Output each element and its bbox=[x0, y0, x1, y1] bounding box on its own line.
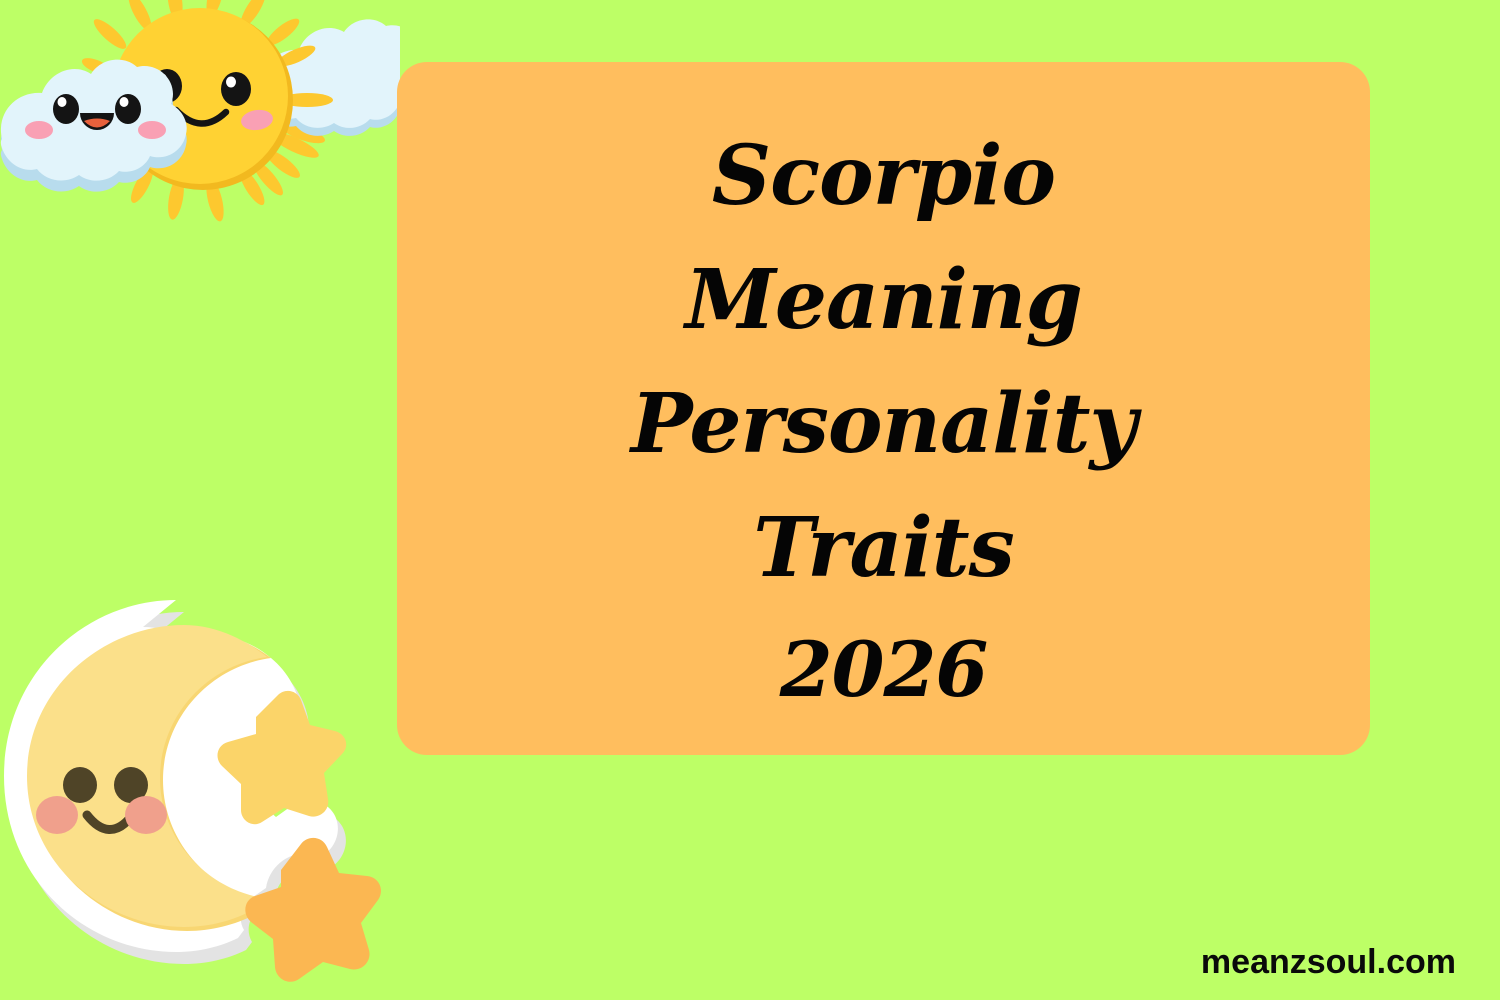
title-block: Scorpio Meaning Personality Traits 2026 bbox=[397, 114, 1370, 730]
title-line-5: 2026 bbox=[397, 610, 1370, 730]
site-watermark: meanzsoul.com bbox=[1201, 943, 1456, 982]
poster-canvas: Scorpio Meaning Personality Traits 2026 … bbox=[0, 0, 1500, 1000]
crescent-moon-with-stars-icon bbox=[0, 592, 424, 1000]
title-card: Scorpio Meaning Personality Traits 2026 bbox=[397, 62, 1370, 755]
cloud-left-shape bbox=[1, 60, 187, 192]
title-line-3: Personality bbox=[397, 362, 1370, 486]
sun-face-shape bbox=[112, 8, 293, 190]
title-line-2: Meaning bbox=[397, 238, 1370, 362]
sun-with-clouds-icon bbox=[0, 0, 400, 242]
title-line-4: Traits bbox=[397, 486, 1370, 610]
title-line-1: Scorpio bbox=[397, 114, 1370, 238]
cloud-right-shape bbox=[261, 19, 400, 136]
